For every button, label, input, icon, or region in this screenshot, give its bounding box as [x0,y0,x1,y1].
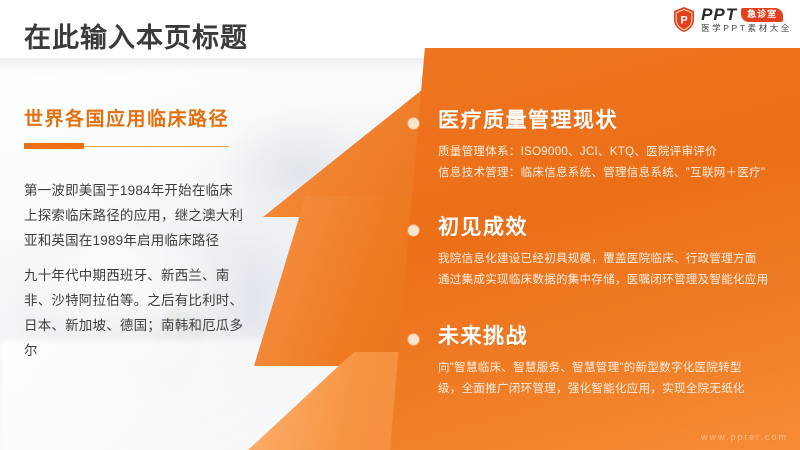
bullet-dot-icon [408,118,419,129]
section-title: 初见成效 [438,211,528,241]
section-body: 向"智慧临床、智慧服务、智慧管理"的新型数字化医院转型 级，全面推广闭环管理，强… [438,358,793,400]
section-line: 级，全面推广闭环管理，强化智能化应用，实现全院无纸化 [438,379,793,400]
brand-logo: P PPT 急诊室 医学PPT素材大全 [672,6,792,33]
logo-tagline: 医学PPT素材大全 [701,24,792,33]
svg-text:P: P [680,15,687,27]
section-line: 信息技术管理：临床信息系统、管理信息系统、"互联网＋医疗" [438,163,793,184]
left-paragraph-2: 九十年代中期西班牙、新西兰、南非、沙特阿拉伯等。之后有比利时、日本、新加坡、德国… [24,263,246,363]
page-title: 在此输入本页标题 [24,16,248,55]
section-title: 医疗质量管理现状 [438,104,618,134]
section-line: 通过集成实现临床数据的集中存储，医嘱闭环管理及智能化应用 [438,270,793,291]
bullet-dot-icon [408,225,419,236]
logo-text-block: PPT 急诊室 医学PPT素材大全 [701,6,792,33]
site-watermark: www.ppter.com [701,432,788,442]
left-section-heading: 世界各国应用临床路径 [24,104,229,131]
logo-primary-row: PPT 急诊室 [701,6,792,23]
logo-badge: 急诊室 [741,8,783,22]
shield-icon: P [672,6,696,33]
left-paragraph-1: 第一波即美国于1984年开始在临床上探索临床路径的应用，继之澳大利亚和英国在19… [24,178,246,253]
logo-brand-text: PPT [701,6,737,23]
section-body: 质量管理体系：ISO9000、JCI、KTQ、医院评审评价 信息技术管理：临床信… [438,142,793,184]
content-panel-sections: 医疗质量管理现状 质量管理体系：ISO9000、JCI、KTQ、医院评审评价 信… [390,48,800,450]
bullet-dot-icon [408,334,419,345]
left-heading-rule-accent [24,143,84,149]
section-line: 质量管理体系：ISO9000、JCI、KTQ、医院评审评价 [438,142,793,163]
section-title: 未来挑战 [438,320,528,350]
section-line: 向"智慧临床、智慧服务、智慧管理"的新型数字化医院转型 [438,358,793,379]
slide-canvas: 在此输入本页标题 P PPT 急诊室 医学PPT素材大全 世界各国应用临床路径 … [0,0,800,450]
section-line: 我院信息化建设已经初具规模，覆盖医院临床、行政管理方面 [438,249,793,270]
section-body: 我院信息化建设已经初具规模，覆盖医院临床、行政管理方面 通过集成实现临床数据的集… [438,249,793,291]
